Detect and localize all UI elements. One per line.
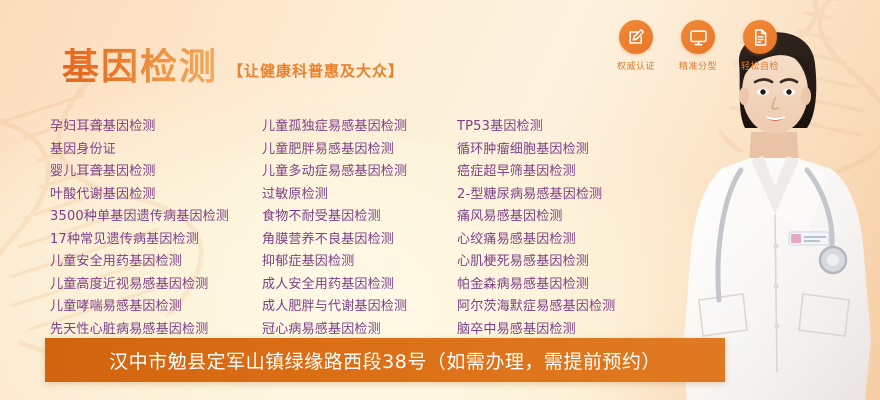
title-block: 基因检测 【让健康科普惠及大众】 [62,48,404,85]
feature-badge-typing[interactable]: 精准分型 [674,20,722,72]
feature-badge-label: 精准分型 [679,59,717,72]
list-item[interactable]: TP53基因检测 [457,116,670,139]
service-list: 孕妇耳聋基因检测 基因身份证 婴儿耳聋基因检测 叶酸代谢基因检测 3500种单基… [50,116,670,341]
list-item[interactable]: 17种常见遗传病基因检测 [50,229,262,252]
feature-badge-selfcheck[interactable]: 轻松自检 [736,20,784,72]
genetic-testing-poster: 基因检测 【让健康科普惠及大众】 权威认证 精准分型 [0,0,880,400]
list-item[interactable]: 儿童孤独症易感基因检测 [262,116,457,139]
address-text: 汉中市勉县定军山镇绿缘路西段38号（如需办理，需提前预约） [109,347,661,374]
list-item[interactable]: 孕妇耳聋基因检测 [50,116,262,139]
list-item[interactable]: 心绞痛易感基因检测 [457,229,670,252]
list-item[interactable]: 阿尔茨海默症易感基因检测 [457,296,670,319]
list-item[interactable]: 儿童高度近视易感基因检测 [50,274,262,297]
list-item[interactable]: 帕金森病易感基因检测 [457,274,670,297]
report-document-icon [743,20,777,54]
service-column-2: 儿童孤独症易感基因检测 儿童肥胖易感基因检测 儿童多动症易感基因检测 过敏原检测… [262,116,457,341]
feature-badge-label: 轻松自检 [741,59,779,72]
list-item[interactable]: 癌症超早筛基因检测 [457,161,670,184]
service-column-1: 孕妇耳聋基因检测 基因身份证 婴儿耳聋基因检测 叶酸代谢基因检测 3500种单基… [50,116,262,341]
list-item[interactable]: 循环肿瘤细胞基因检测 [457,139,670,162]
monitor-icon [681,20,715,54]
list-item[interactable]: 食物不耐受基因检测 [262,206,457,229]
list-item[interactable]: 儿童安全用药基因检测 [50,251,262,274]
certificate-pen-icon [619,20,653,54]
list-item[interactable]: 婴儿耳聋基因检测 [50,161,262,184]
list-item[interactable]: 2-型糖尿病易感基因检测 [457,184,670,207]
list-item[interactable]: 儿童肥胖易感基因检测 [262,139,457,162]
address-bar: 汉中市勉县定军山镇绿缘路西段38号（如需办理，需提前预约） [45,338,725,382]
page-title: 基因检测 [62,48,218,85]
list-item[interactable]: 痛风易感基因检测 [457,206,670,229]
list-item[interactable]: 3500种单基因遗传病基因检测 [50,206,262,229]
feature-badge-label: 权威认证 [617,59,655,72]
feature-badge-authority[interactable]: 权威认证 [612,20,660,72]
list-item[interactable]: 儿童哮喘易感基因检测 [50,296,262,319]
service-column-3: TP53基因检测 循环肿瘤细胞基因检测 癌症超早筛基因检测 2-型糖尿病易感基因… [457,116,670,341]
list-item[interactable]: 成人肥胖与代谢基因检测 [262,296,457,319]
list-item[interactable]: 基因身份证 [50,139,262,162]
list-item[interactable]: 过敏原检测 [262,184,457,207]
list-item[interactable]: 叶酸代谢基因检测 [50,184,262,207]
list-item[interactable]: 角膜营养不良基因检测 [262,229,457,252]
page-subtitle: 【让健康科普惠及大众】 [228,60,404,85]
list-item[interactable]: 成人安全用药基因检测 [262,274,457,297]
list-item[interactable]: 心肌梗死易感基因检测 [457,251,670,274]
feature-badge-list: 权威认证 精准分型 轻松自检 [612,20,784,72]
list-item[interactable]: 儿童多动症易感基因检测 [262,161,457,184]
list-item[interactable]: 抑郁症基因检测 [262,251,457,274]
